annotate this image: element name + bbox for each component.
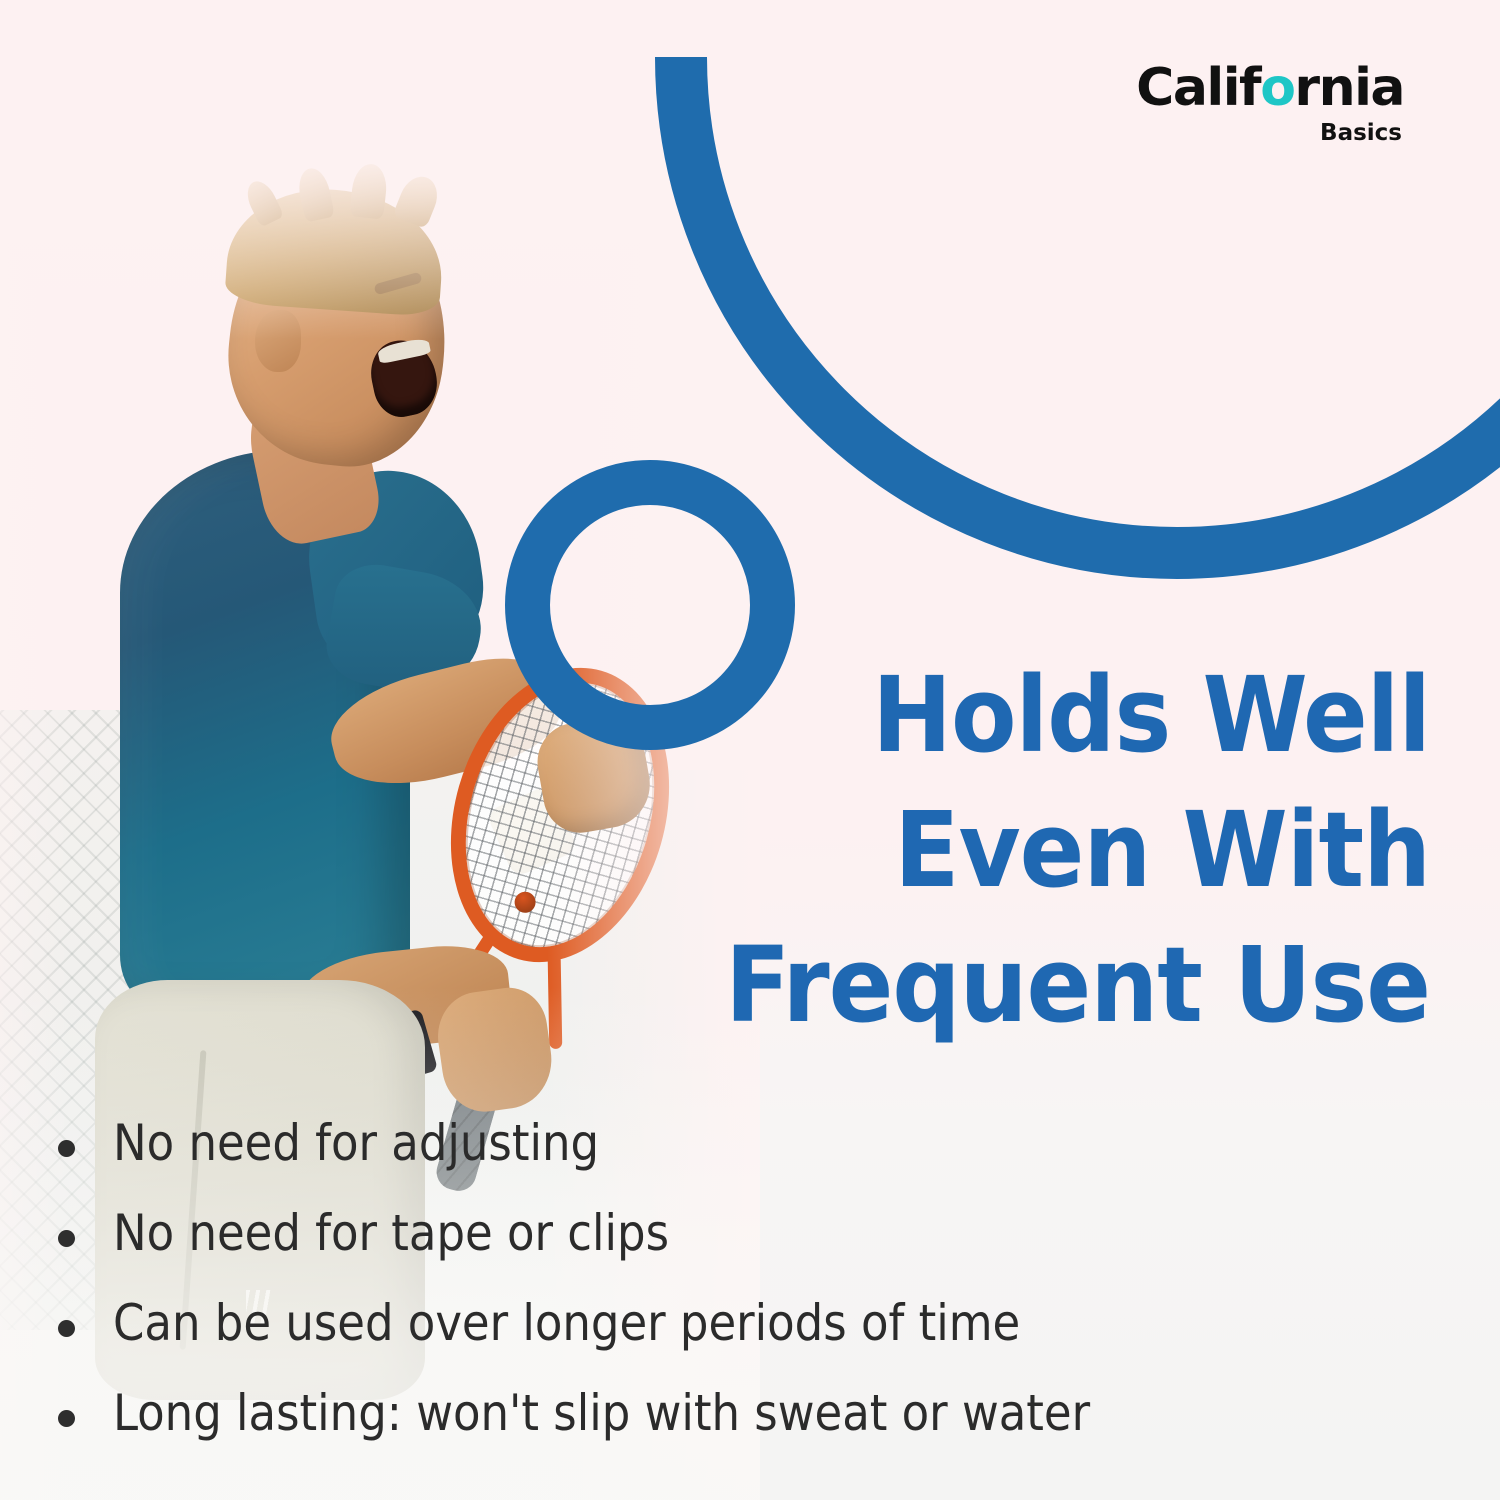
brand-name-accent-o: o xyxy=(1260,58,1294,118)
brand-name-part1: Calif xyxy=(1136,58,1260,118)
bullet-dot-icon xyxy=(58,1140,75,1157)
brand-name: California xyxy=(1136,62,1404,114)
athlete-hair-spike xyxy=(349,162,388,219)
list-item: Long lasting: won't slip with sweat or w… xyxy=(58,1388,1358,1478)
athlete-ear xyxy=(255,310,301,372)
headline-line-2: Even With xyxy=(594,783,1430,918)
list-item: Can be used over longer periods of time xyxy=(58,1298,1358,1388)
headline-line-1: Holds Well xyxy=(594,648,1430,783)
headline-line-3: Frequent Use xyxy=(594,918,1430,1053)
page-title: Holds Well Even With Frequent Use xyxy=(594,648,1430,1054)
list-item-label: No need for tape or clips xyxy=(113,1208,669,1258)
list-item-label: Long lasting: won't slip with sweat or w… xyxy=(113,1388,1090,1438)
bullet-dot-icon xyxy=(58,1230,75,1247)
bullet-dot-icon xyxy=(58,1320,75,1337)
brand-tagline: Basics xyxy=(1136,122,1402,145)
list-item: No need for tape or clips xyxy=(58,1208,1358,1298)
product-feature-banner: California Basics Holds Well Even With F… xyxy=(0,0,1500,1500)
racket-throat-right xyxy=(548,954,563,1049)
brand-logo: California Basics xyxy=(1136,62,1404,145)
bullet-dot-icon xyxy=(58,1410,75,1427)
brand-name-part2: rnia xyxy=(1294,58,1404,118)
racket-logo-dot xyxy=(512,889,538,915)
feature-bullet-list: No need for adjusting No need for tape o… xyxy=(58,1118,1358,1478)
list-item: No need for adjusting xyxy=(58,1118,1358,1208)
list-item-label: No need for adjusting xyxy=(113,1118,599,1168)
list-item-label: Can be used over longer periods of time xyxy=(113,1298,1020,1348)
